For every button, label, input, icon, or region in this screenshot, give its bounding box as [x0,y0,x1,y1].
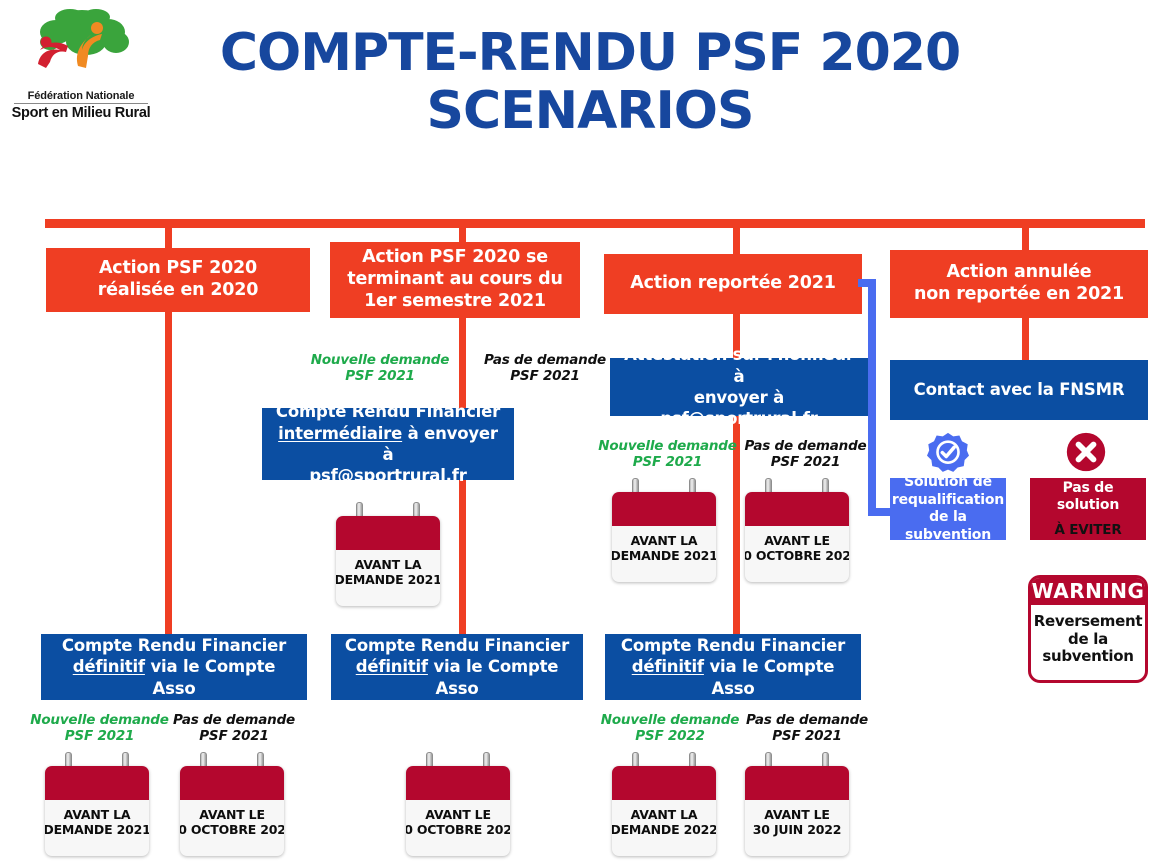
calendar-text-line1: AVANT LA [612,534,716,549]
annot-col1-bottom-left: Nouvelle demande PSF 2021 [22,712,177,745]
calendar-header-band [45,766,149,800]
calendar-text-line1: AVANT LA [612,808,716,823]
calendar-header-band [612,492,716,526]
annot-col1-bottom-right: Pas de demande PSF 2021 [158,712,310,745]
logo-federation-line: Fédération Nationale [6,90,156,102]
calendar-text-line1: AVANT LE [745,534,849,549]
annot-col3-top-right: Pas de demande PSF 2021 [733,438,878,471]
warning-sign: WARNING Reversement de la subvention [1028,575,1148,683]
interim-box-underlined: intermédiaire [278,424,402,443]
calendar-text-line2: 30 OCTOBRE 2021 [180,823,284,838]
header-box-col2[interactable]: Action PSF 2020 se terminant au cours du… [330,242,580,318]
outcome-requal-l1: Solution de [904,474,992,492]
annot-col3-br-l1: Pas de demande [733,712,881,728]
final-col3-line2: définitif via le Compte Asso [615,656,851,699]
tree-athletes-logo-icon [16,8,146,80]
annot-col1-bl-l2: PSF 2021 [22,728,177,744]
final-report-box-col3[interactable]: Compte Rendu Financier définitif via le … [605,634,861,700]
annot-col3-tr-l1: Pas de demande [733,438,878,454]
final-col2-line2: définitif via le Compte Asso [341,656,573,699]
calendar-text-line2: 30 JUIN 2022 [753,823,841,838]
contact-box-col4[interactable]: Contact avec la FNSMR [890,360,1148,420]
annot-col2-top-left-l2: PSF 2021 [300,368,460,384]
calendar-text: AVANT LA DEMANDE 2021 [612,526,716,582]
calendar-text-line2: 30 OCTOBRE 2021 [745,549,849,564]
calendar-text-line1: AVANT LE [406,808,510,823]
annot-col3-tr-l2: PSF 2021 [733,454,878,470]
calendar-text-line2: 30 OCTOBRE 2021 [406,823,510,838]
header-box-col1[interactable]: Action PSF 2020 réalisée en 2020 [46,248,310,312]
calendar-col1-right: AVANT LE 30 OCTOBRE 2021 [180,752,284,856]
final-col2-line1: Compte Rendu Financier [341,635,573,656]
page-title-line2: SCENARIOS [160,82,1020,140]
fnsmr-logo: Fédération Nationale Sport en Milieu Rur… [6,8,156,118]
calendar-col1-left: AVANT LA DEMANDE 2021 [45,752,149,856]
calendar-rings [336,502,440,516]
attestation-box-col3[interactable]: Attestation sur l'honneur à envoyer à ps… [610,358,868,416]
header-col2-line2: terminant au cours du [347,269,562,291]
final-report-box-col1[interactable]: Compte Rendu Financier définitif via le … [41,634,307,700]
final-col2-underlined: définitif [356,657,428,676]
page-title-line1: COMPTE-RENDU PSF 2020 [220,23,960,83]
calendar-text: AVANT LE 30 OCTOBRE 2021 [406,800,510,856]
calendar-body: AVANT LA DEMANDE 2022 [612,766,716,856]
calendar-body: AVANT LA DEMANDE 2021 [336,516,440,606]
header-box-col3[interactable]: Action reportée 2021 [604,254,862,314]
attestation-line1: Attestation sur l'honneur à [620,344,858,387]
timeline-spine [45,219,1145,228]
header-col1-line1: Action PSF 2020 [98,258,258,280]
annot-col2-top-left: Nouvelle demande PSF 2021 [300,352,460,385]
calendar-text: AVANT LA DEMANDE 2022 [612,800,716,856]
calendar-rings [745,478,849,492]
calendar-header-band [180,766,284,800]
calendar-body: AVANT LE 30 JUIN 2022 [745,766,849,856]
outcome-box-requalification[interactable]: Solution de requalification de la subven… [890,478,1006,540]
calendar-body: AVANT LA DEMANDE 2021 [612,492,716,582]
calendar-body: AVANT LA DEMANDE 2021 [45,766,149,856]
calendar-text-line1: AVANT LA [45,808,149,823]
annot-col1-br-l2: PSF 2021 [158,728,310,744]
calendar-rings [180,752,284,766]
header-col1-line2: réalisée en 2020 [98,280,258,302]
warning-line3: subvention [1031,648,1145,666]
final-col1-rest: via le Compte Asso [145,657,275,697]
calendar-text-line1: AVANT LA [336,558,440,573]
outcome-requal-l2: requalification [892,492,1004,510]
calendar-col3-bottom-right: AVANT LE 30 JUIN 2022 [745,752,849,856]
calendar-rings [612,752,716,766]
calendar-body: AVANT LE 30 OCTOBRE 2021 [180,766,284,856]
annot-col1-bl-l1: Nouvelle demande [22,712,177,728]
contact-box-label: Contact avec la FNSMR [914,379,1125,400]
calendar-text: AVANT LE 30 JUIN 2022 [745,800,849,856]
annot-col3-bottom-left: Nouvelle demande PSF 2022 [595,712,745,745]
header-col3-line1: Action reportée 2021 [630,273,835,295]
x-circle-icon [1066,432,1106,477]
final-col3-line1: Compte Rendu Financier [615,635,851,656]
calendar-header-band [406,766,510,800]
annot-col3-top-left: Nouvelle demande PSF 2021 [595,438,740,471]
calendar-text-line1: AVANT LE [180,808,284,823]
final-col2-rest: via le Compte Asso [428,657,558,697]
warning-line1: Reversement [1031,613,1145,631]
calendar-text-line2: DEMANDE 2021 [336,573,440,588]
calendar-text-line2: DEMANDE 2022 [612,823,716,838]
annot-col2-top-right-l2: PSF 2021 [470,368,620,384]
warning-line2: de la [1031,631,1145,649]
header-col2-line1: Action PSF 2020 se [347,247,562,269]
calendar-col3-top-left: AVANT LA DEMANDE 2021 [612,478,716,582]
infographic-page: Fédération Nationale Sport en Milieu Rur… [0,0,1160,868]
outcome-nosol-sub: À EVITER [1054,522,1121,539]
attestation-line2: envoyer à psf@sportrural.fr [620,387,858,430]
annot-col3-tl-l1: Nouvelle demande [595,438,740,454]
calendar-header-band [745,766,849,800]
calendar-text: AVANT LE 30 OCTOBRE 2021 [180,800,284,856]
calendar-text-line1: AVANT LE [753,808,841,823]
final-col3-rest: via le Compte Asso [704,657,834,697]
annot-col2-top-right-l1: Pas de demande [470,352,620,368]
annot-col3-bottom-right: Pas de demande PSF 2021 [733,712,881,745]
connector-col1-vertical [165,312,172,637]
calendar-col3-bottom-left: AVANT LA DEMANDE 2022 [612,752,716,856]
outcome-requal-l3: de la subvention [896,509,1000,544]
annot-col3-tl-l2: PSF 2021 [595,454,740,470]
annot-col3-bl-l2: PSF 2022 [595,728,745,744]
connector-col4-vertical [1022,318,1029,360]
calendar-header-band [745,492,849,526]
calendar-col2-interim: AVANT LA DEMANDE 2021 [336,502,440,606]
calendar-rings [406,752,510,766]
page-title: COMPTE-RENDU PSF 2020 SCENARIOS [160,24,1020,140]
calendar-header-band [612,766,716,800]
calendar-body: AVANT LE 30 OCTOBRE 2021 [406,766,510,856]
calendar-rings [45,752,149,766]
outcome-nosol-l2: solution [1057,497,1119,515]
logo-sport-line: Sport en Milieu Rural [6,105,156,121]
final-col1-line1: Compte Rendu Financier [51,635,297,656]
annot-col2-top-left-l1: Nouvelle demande [300,352,460,368]
calendar-text: AVANT LE 30 OCTOBRE 2021 [745,526,849,582]
outcome-nosol-l1: Pas de [1063,480,1114,498]
final-col3-underlined: définitif [632,657,704,676]
interim-box-line1: Compte Rendu Financier [272,401,504,422]
final-report-box-col2[interactable]: Compte Rendu Financier définitif via le … [331,634,583,700]
final-col1-underlined: définitif [73,657,145,676]
annot-col1-br-l1: Pas de demande [158,712,310,728]
outcome-box-no-solution[interactable]: Pas de solution À EVITER [1030,478,1146,540]
calendar-text-line2: DEMANDE 2021 [45,823,149,838]
check-badge-icon [927,432,969,479]
annot-col2-top-right: Pas de demande PSF 2021 [470,352,620,385]
calendar-text-line2: DEMANDE 2021 [612,549,716,564]
interim-box-line3: psf@sportrural.fr [272,465,504,486]
calendar-rings [745,752,849,766]
final-col1-line2: définitif via le Compte Asso [51,656,297,699]
calendar-header-band [336,516,440,550]
annot-col3-br-l2: PSF 2021 [733,728,881,744]
interim-report-box-col2[interactable]: Compte Rendu Financier intermédiaire à e… [262,408,514,480]
calendar-body: AVANT LE 30 OCTOBRE 2021 [745,492,849,582]
calendar-rings [612,478,716,492]
warning-title: WARNING [1031,578,1145,605]
calendar-text: AVANT LA DEMANDE 2021 [336,550,440,606]
interim-box-line2: intermédiaire à envoyer à [272,423,504,466]
warning-body: Reversement de la subvention [1031,605,1145,666]
calendar-col3-top-right: AVANT LE 30 OCTOBRE 2021 [745,478,849,582]
calendar-col2-bottom: AVANT LE 30 OCTOBRE 2021 [406,752,510,856]
annot-col3-bl-l1: Nouvelle demande [595,712,745,728]
calendar-text: AVANT LA DEMANDE 2021 [45,800,149,856]
logo-divider [14,103,148,104]
header-col2-line3: 1er semestre 2021 [347,291,562,313]
